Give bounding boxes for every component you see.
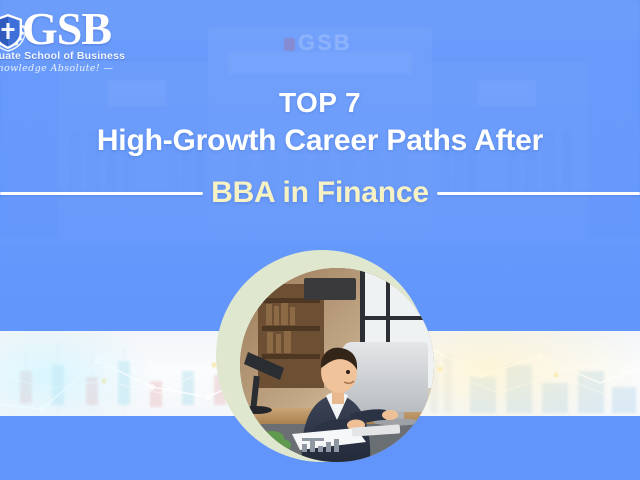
logo-wordmark: GSB (22, 6, 111, 52)
gsb-logo: GSB duate School of Business Knowledge A… (0, 6, 146, 76)
headline-line-1: High-Growth Career Paths After (0, 120, 640, 162)
background-gsb-watermark: GSB (284, 30, 352, 56)
headline-accent-text: BBA in Finance (203, 176, 437, 210)
headline-accent-row: BBA in Finance (0, 176, 640, 210)
poster-canvas: GSB (0, 0, 640, 480)
divider-line-left (0, 192, 203, 195)
portrait-photo (240, 268, 434, 462)
headline-block: TOP 7 High-Growth Career Paths After (0, 86, 640, 162)
background-watermark-text: GSB (298, 30, 352, 55)
logo-subtitle: duate School of Business (0, 50, 125, 62)
band-glow-right (400, 331, 640, 416)
band-glow-left (0, 331, 160, 416)
watermark-crest-icon (284, 38, 295, 51)
portrait-circle (216, 250, 434, 462)
headline-eyebrow: TOP 7 (0, 86, 640, 120)
divider-line-right (437, 192, 640, 195)
logo-tagline: Knowledge Absolute! — (0, 63, 113, 74)
businessman-at-computer-illustration (240, 268, 434, 462)
